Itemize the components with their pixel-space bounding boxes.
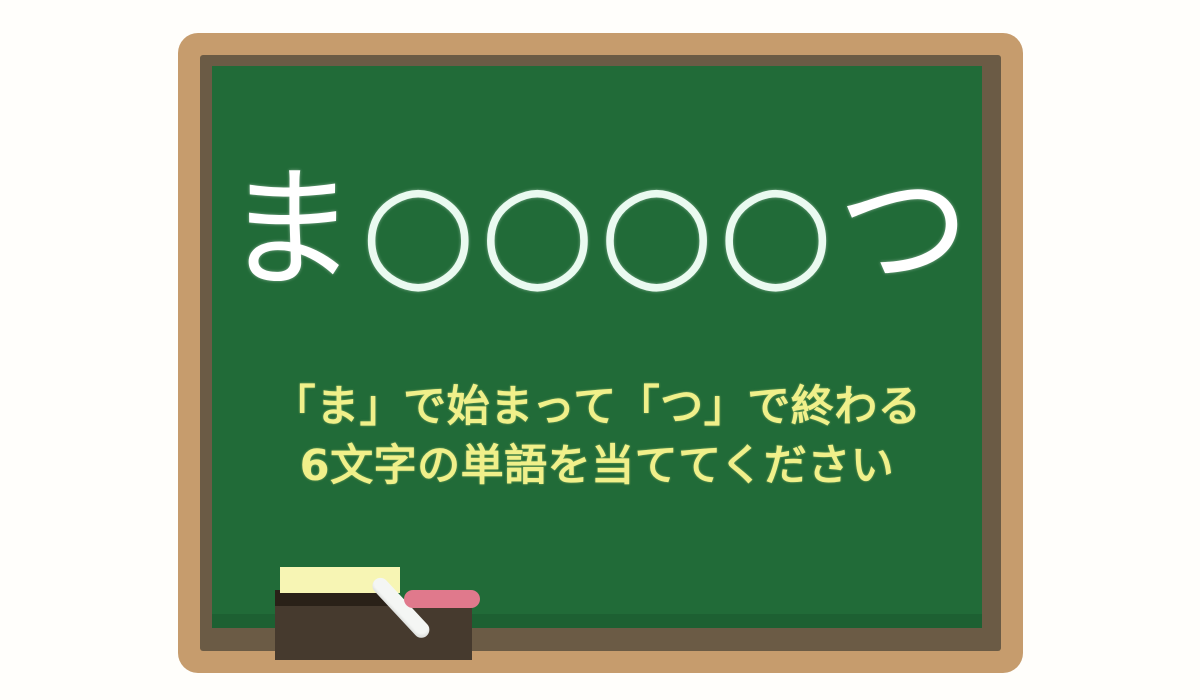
instruction-line-2: 6文字の単語を当ててください [212,437,982,496]
puzzle-blank-2: ○ [480,164,595,296]
puzzle-blank-3: ○ [599,164,714,296]
puzzle-char-first: ま [225,164,357,296]
puzzle-blank-1: ○ [361,164,476,296]
pink-chalk-stick [404,590,480,608]
chalk-tray-ledge [275,602,472,660]
puzzle-character-row: ま ○ ○ ○ ○ つ [212,150,982,310]
instruction-text-block: 「ま」で始まって「つ」で終わる 6文字の単語を当ててください [212,378,982,497]
puzzle-char-last: つ [837,164,969,296]
instruction-line-1: 「ま」で始まって「つ」で終わる [212,378,982,437]
puzzle-blank-4: ○ [718,164,833,296]
chalk-tray-group [275,560,475,662]
